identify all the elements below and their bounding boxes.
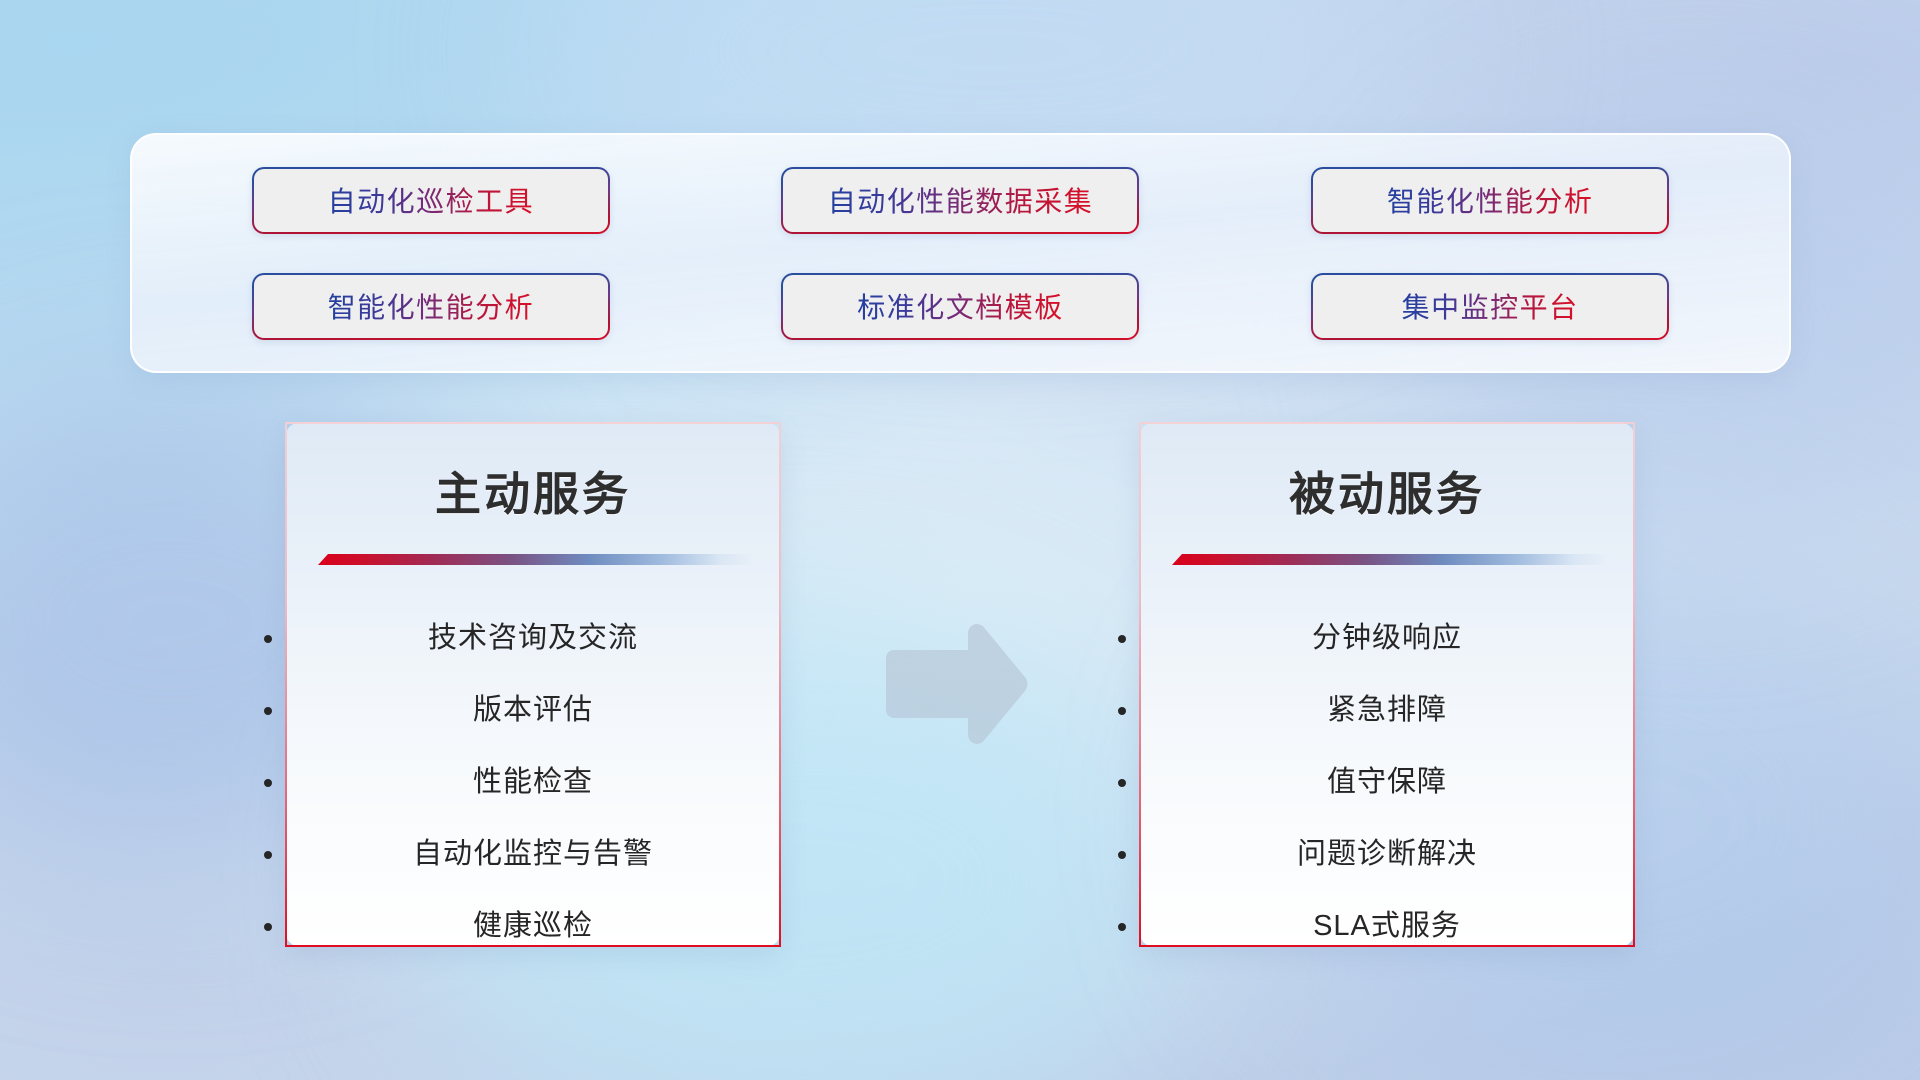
capability-pill-surface: 自动化巡检工具 <box>254 169 608 232</box>
capability-pill-label: 自动化性能数据采集 <box>828 180 1094 220</box>
service-list-item: 技术咨询及交流 <box>287 602 779 674</box>
diagram-stage: 自动化巡检工具 自动化性能数据采集 智能化性能分析 智能化性能分析 <box>0 0 1920 1080</box>
service-list-item: SLA式服务 <box>1141 890 1633 962</box>
service-item-list: 技术咨询及交流 版本评估 性能检查 自动化监控与告警 健康巡检 <box>287 602 779 962</box>
capability-pill-surface: 智能化性能分析 <box>254 275 608 338</box>
capability-pill[interactable]: 自动化巡检工具 <box>252 167 610 234</box>
capability-pill-surface: 标准化文档模板 <box>783 275 1137 338</box>
capability-pill-surface: 自动化性能数据采集 <box>783 169 1137 232</box>
service-card-title: 主动服务 <box>287 458 779 524</box>
capability-pill[interactable]: 标准化文档模板 <box>781 273 1139 340</box>
service-card-title: 被动服务 <box>1141 458 1633 524</box>
capability-pill[interactable]: 自动化性能数据采集 <box>781 167 1139 234</box>
capability-pill[interactable]: 智能化性能分析 <box>1311 167 1669 234</box>
capability-pill-surface: 智能化性能分析 <box>1313 169 1667 232</box>
capabilities-panel: 自动化巡检工具 自动化性能数据采集 智能化性能分析 智能化性能分析 <box>130 133 1791 373</box>
service-item-list: 分钟级响应 紧急排障 值守保障 问题诊断解决 SLA式服务 <box>1141 602 1633 962</box>
capability-pill-label: 智能化性能分析 <box>328 286 535 326</box>
capability-pill[interactable]: 集中监控平台 <box>1311 273 1669 340</box>
service-card-reactive: 被动服务 分钟级响应 紧急排障 值守保障 问题诊断解决 SLA式服务 <box>1139 422 1635 947</box>
capability-pill-surface: 集中监控平台 <box>1313 275 1667 338</box>
service-list-item: 版本评估 <box>287 674 779 746</box>
service-list-item: 紧急排障 <box>1141 674 1633 746</box>
service-card-divider <box>318 554 755 566</box>
service-list-item: 分钟级响应 <box>1141 602 1633 674</box>
service-list-item: 自动化监控与告警 <box>287 818 779 890</box>
flow-arrow <box>876 620 1036 748</box>
divider-gradient-bar <box>318 554 755 565</box>
capability-pill-label: 标准化文档模板 <box>857 286 1064 326</box>
service-list-item: 值守保障 <box>1141 746 1633 818</box>
divider-gradient-bar <box>1172 554 1609 565</box>
right-arrow-icon <box>876 620 1036 748</box>
capability-pill-grid: 自动化巡检工具 自动化性能数据采集 智能化性能分析 智能化性能分析 <box>132 135 1789 371</box>
service-list-item: 健康巡检 <box>287 890 779 962</box>
capability-pill[interactable]: 智能化性能分析 <box>252 273 610 340</box>
capability-pill-label: 自动化巡检工具 <box>328 180 535 220</box>
capability-pill-label: 智能化性能分析 <box>1387 180 1594 220</box>
service-card-divider <box>1172 554 1609 566</box>
service-card-proactive: 主动服务 技术咨询及交流 版本评估 性能检查 自动化监控与告警 健康巡检 <box>285 422 781 947</box>
service-list-item: 性能检查 <box>287 746 779 818</box>
service-list-item: 问题诊断解决 <box>1141 818 1633 890</box>
capability-pill-label: 集中监控平台 <box>1402 286 1579 326</box>
